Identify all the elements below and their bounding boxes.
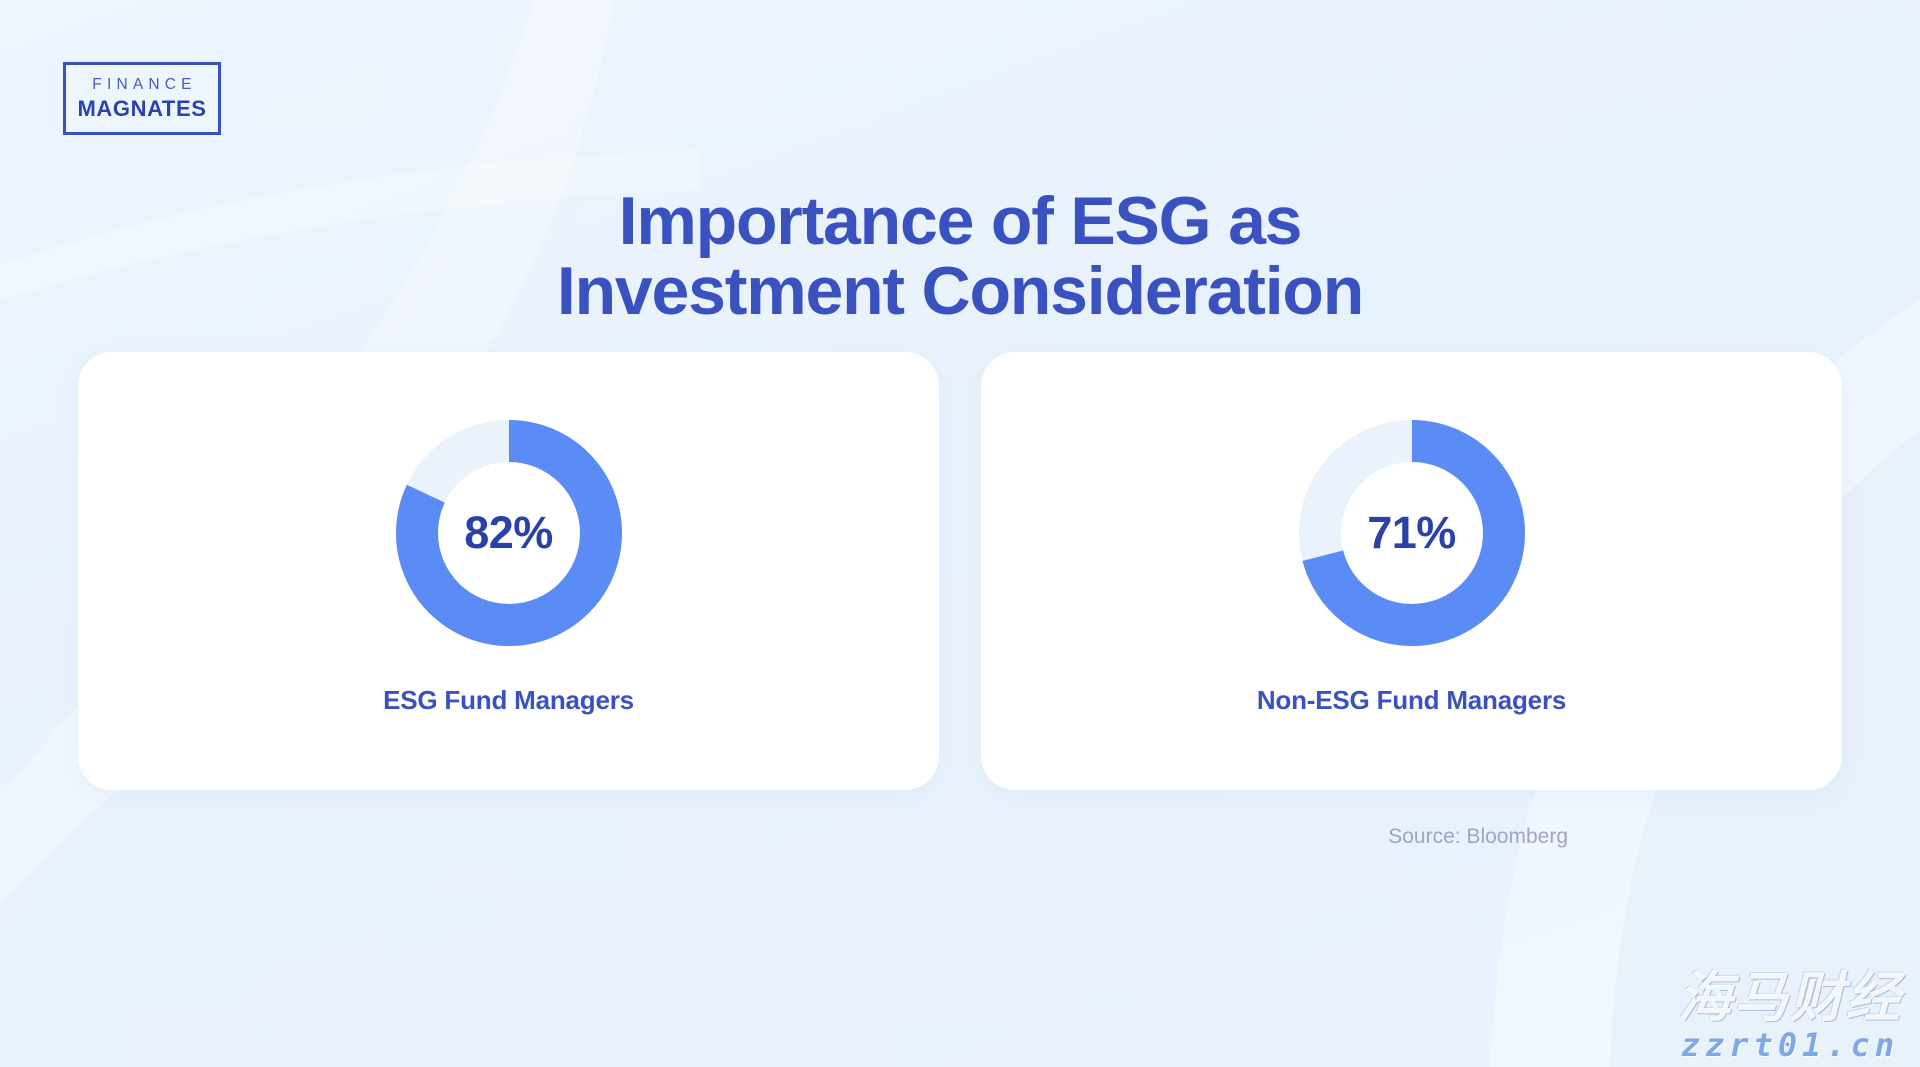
page-title-line-2: Investment Consideration (0, 256, 1920, 327)
site-watermark: 海马财经 zzrt01.cn (1678, 971, 1902, 1061)
logo-text-finance: FINANCE (87, 77, 196, 93)
brand-logo[interactable]: FINANCE MAGNATES (63, 62, 221, 135)
page-title-line-1: Importance of ESG as (0, 186, 1920, 257)
watermark-url-text: zzrt01.cn (1678, 1029, 1902, 1061)
donut-value-label: 71% (1299, 507, 1525, 559)
donut-chart-non-esg-fund-managers: 71% (1299, 420, 1525, 646)
donut-value-label: 82% (396, 507, 622, 559)
donut-chart-esg-fund-managers: 82% (396, 420, 622, 646)
page-title: Importance of ESG as Investment Consider… (0, 186, 1920, 327)
stat-card-esg-fund-managers[interactable]: 82% ESG Fund Managers (78, 352, 939, 790)
infographic-canvas: FINANCE MAGNATES Importance of ESG as In… (0, 0, 1920, 1067)
stat-card-group: 82% ESG Fund Managers 71% Non-ESG Fund M… (78, 352, 1842, 790)
stat-card-label: Non-ESG Fund Managers (981, 685, 1842, 716)
source-attribution: Source: Bloomberg (1388, 825, 1568, 849)
stat-card-non-esg-fund-managers[interactable]: 71% Non-ESG Fund Managers (981, 352, 1842, 790)
logo-text-magnates: MAGNATES (77, 98, 206, 120)
watermark-chinese-text: 海马财经 (1678, 971, 1902, 1025)
stat-card-label: ESG Fund Managers (78, 685, 939, 716)
